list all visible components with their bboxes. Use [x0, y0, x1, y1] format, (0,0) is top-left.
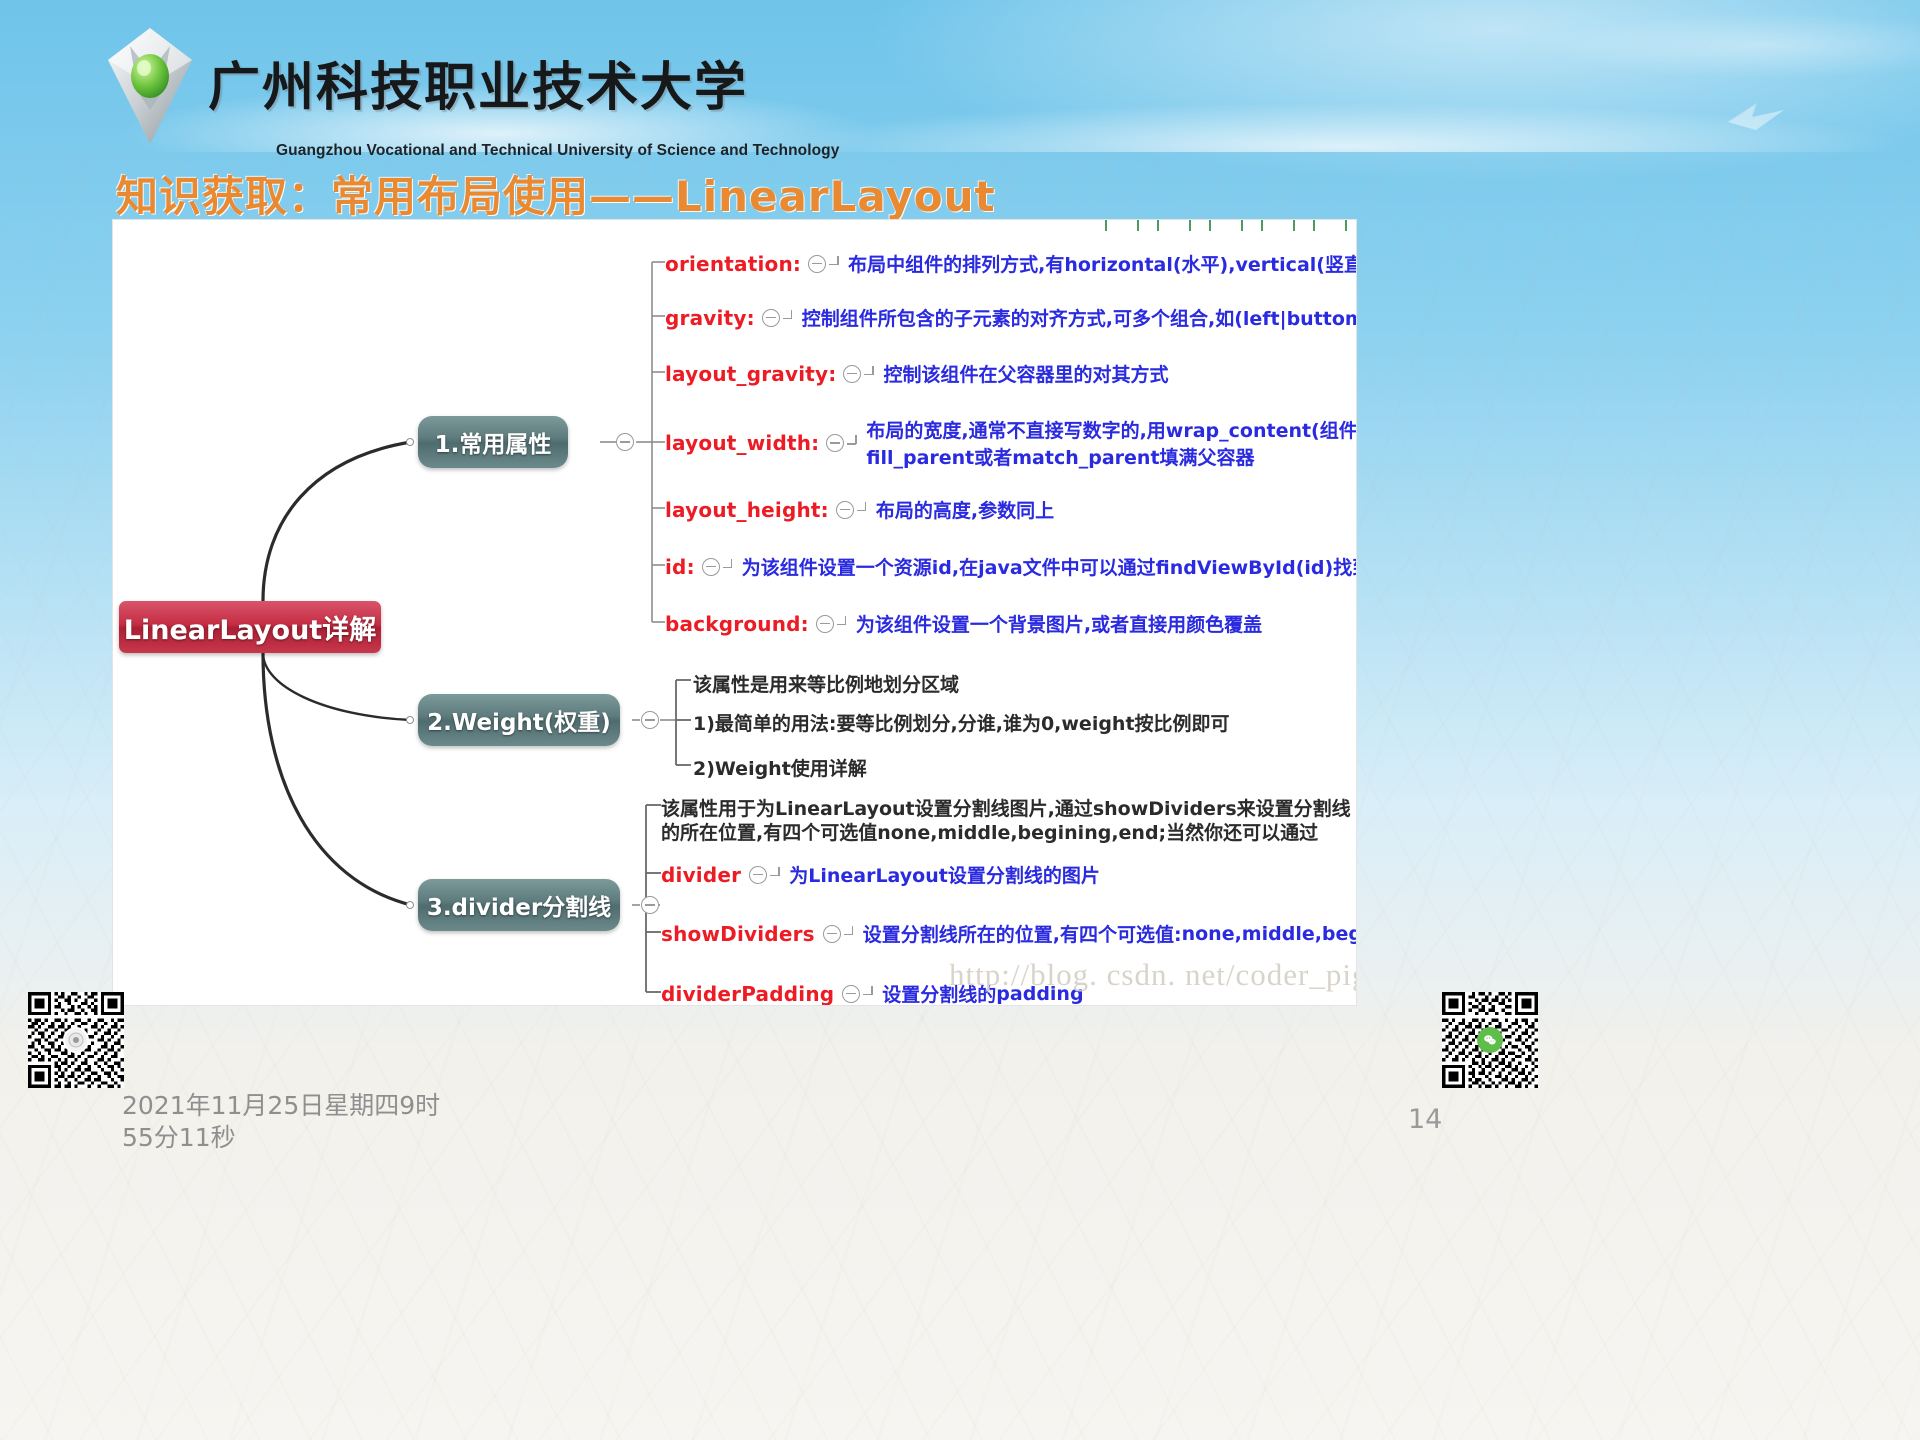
footer-timestamp: 2021年11月25日星期四9时55分11秒: [122, 1090, 452, 1154]
mindmap-root-node[interactable]: LinearLayout详解: [119, 601, 381, 653]
leaf-desc-show-dividers-a: 设置分割线所在的位置,: [863, 920, 1060, 947]
leaf-key-orientation: orientation:: [665, 252, 801, 276]
collapse-toggle-orientation[interactable]: [808, 255, 826, 273]
camera-icon: [68, 1032, 84, 1048]
collapse-toggle-divider-padding[interactable]: [842, 985, 860, 1003]
leaf-desc-layout-width-line2: fill_parent或者match_parent填满父容器: [866, 443, 1357, 470]
leaf-desc-layout-gravity: 控制该组件在父容器里的对其方式: [883, 360, 1168, 387]
leaf-desc-id: 为该组件设置一个资源id,在java文件中可以通过findViewById(id…: [742, 553, 1357, 580]
university-name-en: Guangzhou Vocational and Technical Unive…: [276, 142, 839, 160]
leaf-key-divider: divider: [661, 863, 741, 887]
leaf-divider[interactable]: divider 为LinearLayout 设置分割线的图片: [661, 861, 1100, 888]
connector-elbow-icon: [783, 310, 798, 326]
collapse-toggle-divider[interactable]: [641, 896, 659, 914]
mindmap-branch-common-attributes[interactable]: 1.常用属性: [418, 416, 568, 468]
weight-note-2: 1)最简单的用法:要等比例划分,分谁,谁为0,weight按比例即可: [693, 709, 1230, 736]
collapse-toggle-background[interactable]: [816, 615, 834, 633]
leaf-desc-show-dividers-c: none,middle,begining,end: [1182, 923, 1357, 945]
collapse-toggle-divider-attr[interactable]: [749, 866, 767, 884]
connector-elbow-icon: [770, 867, 785, 883]
connector-elbow-icon: [723, 559, 738, 575]
leaf-background[interactable]: background: 为该组件设置一个背景图片,或者直接用颜色覆盖: [665, 610, 1262, 637]
university-name-cn: 广州科技职业技术大学: [208, 62, 748, 114]
connector-elbow-icon: [857, 502, 872, 518]
branch-endpoint-dot-3: [406, 901, 414, 909]
leaf-key-layout-width: layout_width:: [665, 431, 819, 455]
mindmap-image: LinearLayout详解 1.常用属性 2.Weight(权重) 3.div…: [112, 219, 1357, 1006]
leaf-key-background: background:: [665, 612, 809, 636]
leaf-desc-layout-height: 布局的高度,参数同上: [876, 496, 1054, 523]
leaf-key-id: id:: [665, 555, 695, 579]
leaf-orientation[interactable]: orientation: 布局中组件的排列方式,有horizontal(水平),…: [665, 250, 1357, 277]
connector-elbow-icon: [864, 366, 879, 382]
collapse-toggle-layout-width[interactable]: [826, 434, 844, 452]
connector-elbow-icon: [829, 256, 844, 272]
leaf-show-dividers[interactable]: showDividers 设置分割线所在的位置, 有四个可选值: none,mi…: [661, 920, 1357, 947]
leaf-layout-height[interactable]: layout_height: 布局的高度,参数同上: [665, 496, 1054, 523]
leaf-desc-divider-a: 为LinearLayout: [789, 861, 948, 888]
weight-note-3: 2)Weight使用详解: [693, 754, 867, 781]
leaf-desc-show-dividers-b: 有四个可选值:: [1060, 920, 1182, 947]
page-number: 14: [1408, 1104, 1442, 1135]
leaf-key-divider-padding: dividerPadding: [661, 982, 834, 1006]
connector-elbow-icon: [847, 435, 862, 451]
diamond-gem-logo-icon: [104, 26, 196, 146]
leaf-key-layout-gravity: layout_gravity:: [665, 362, 836, 386]
slide-canvas: 广州科技职业技术大学 Guangzhou Vocational and Tech…: [0, 0, 1920, 1440]
leaf-id[interactable]: id: 为该组件设置一个资源id,在java文件中可以通过findViewByI…: [665, 553, 1357, 580]
wechat-icon: [1482, 1032, 1498, 1048]
leaf-layout-gravity[interactable]: layout_gravity: 控制该组件在父容器里的对其方式: [665, 360, 1169, 387]
leaf-key-layout-height: layout_height:: [665, 498, 829, 522]
leaf-desc-divider-b: 设置分割线的图片: [948, 861, 1100, 888]
divider-intro-line1: 该属性用于为LinearLayout设置分割线图片,通过showDividers…: [661, 794, 1351, 821]
leaf-layout-width[interactable]: layout_width: 布局的宽度,通常不直接写数字的,用wrap_cont…: [665, 416, 1357, 470]
divider-intro-line2: 的所在位置,有四个可选值none,middle,begining,end;当然你…: [661, 818, 1318, 845]
collapse-toggle-layout-height[interactable]: [836, 501, 854, 519]
qr-left-center-badge: [63, 1027, 89, 1053]
collapse-toggle-id[interactable]: [702, 558, 720, 576]
qr-right-center-badge: [1477, 1027, 1503, 1053]
leaf-desc-orientation: 布局中组件的排列方式,有horizontal(水平),vertical(竖直,默…: [848, 250, 1357, 277]
bird-icon: [1726, 100, 1786, 134]
collapse-toggle-common-attributes[interactable]: [616, 433, 634, 451]
university-header: 广州科技职业技术大学 Guangzhou Vocational and Tech…: [104, 26, 1004, 148]
leaf-desc-layout-width-line1: 布局的宽度,通常不直接写数字的,用wrap_content(组件实际大小),: [866, 416, 1357, 443]
mindmap-branch-divider[interactable]: 3.divider分割线: [418, 879, 620, 931]
leaf-desc-gravity: 控制组件所包含的子元素的对齐方式,可多个组合,如(left|buttom): [802, 304, 1357, 331]
branch-endpoint-dot-2: [406, 716, 414, 724]
connector-elbow-icon: [863, 986, 878, 1002]
leaf-desc-background: 为该组件设置一个背景图片,或者直接用颜色覆盖: [856, 610, 1262, 637]
leaf-key-show-dividers: showDividers: [661, 922, 815, 946]
mindmap-branch-weight[interactable]: 2.Weight(权重): [418, 694, 620, 746]
collapse-toggle-layout-gravity[interactable]: [843, 365, 861, 383]
connector-elbow-icon: [844, 926, 859, 942]
branch-endpoint-dot-1: [406, 438, 414, 446]
collapse-toggle-gravity[interactable]: [762, 309, 780, 327]
collapse-toggle-show-dividers[interactable]: [823, 925, 841, 943]
leaf-key-gravity: gravity:: [665, 306, 755, 330]
watermark-text: http://blog. csdn. net/coder_pig: [949, 957, 1357, 993]
collapse-toggle-weight[interactable]: [641, 711, 659, 729]
connector-elbow-icon: [837, 616, 852, 632]
leaf-gravity[interactable]: gravity: 控制组件所包含的子元素的对齐方式,可多个组合,如(left|b…: [665, 304, 1357, 331]
weight-note-1: 该属性是用来等比例地划分区域: [693, 670, 959, 697]
